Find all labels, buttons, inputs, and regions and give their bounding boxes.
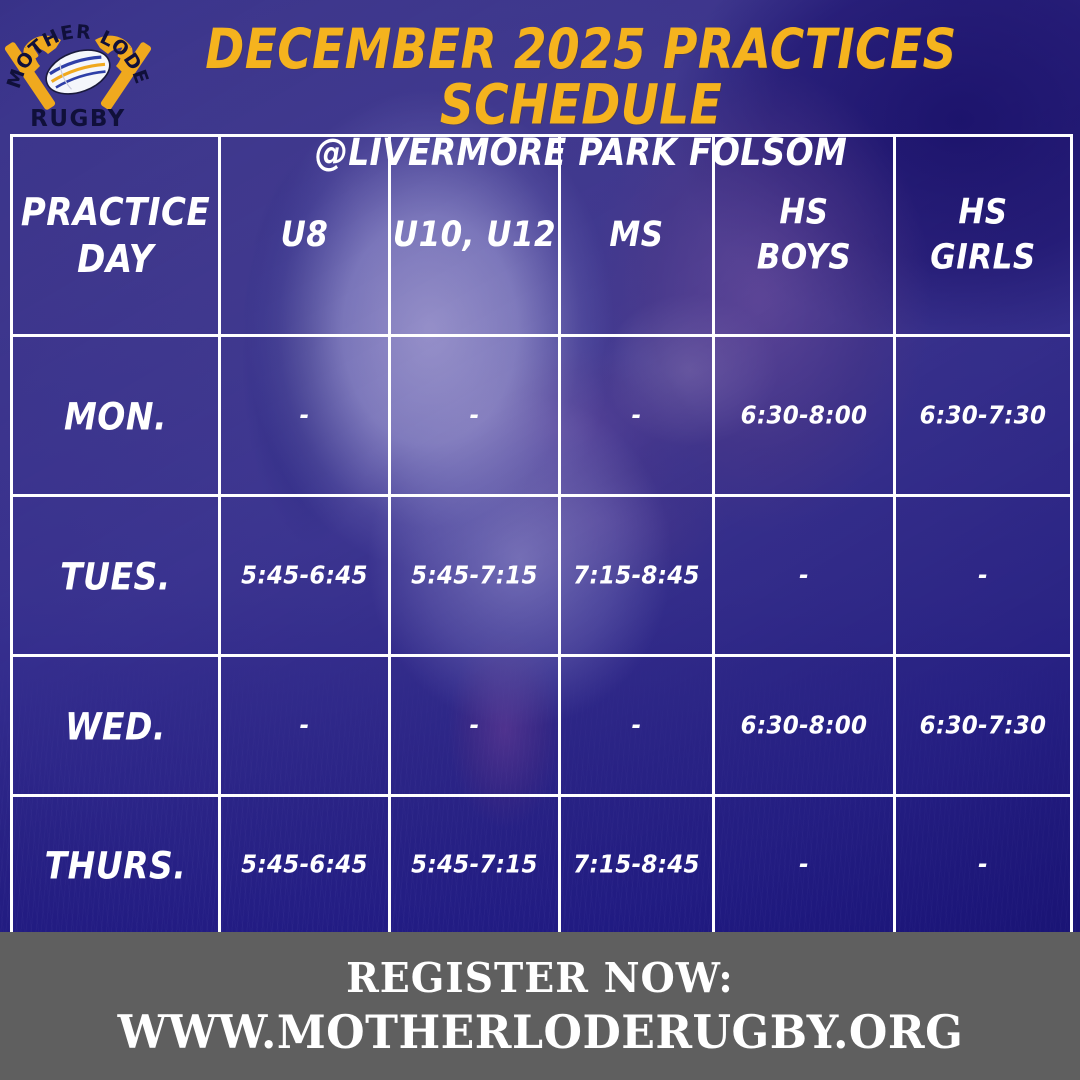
cell-day: TUES. [12, 486, 220, 665]
column-header-u10-u12: U10, U12 [390, 124, 560, 348]
cell-u8: - [220, 649, 390, 803]
cell-hs-girls: 6:30-7:30 [895, 328, 1072, 504]
cell-hs-boys: 6:30-8:00 [714, 649, 895, 803]
cell-hs-girls: 6:30-7:30 [895, 649, 1072, 803]
practice-schedule-table: PRACTICE DAY U8 U10, U12 MS HS BOYS [10, 134, 1073, 935]
cell-day: WED. [12, 647, 220, 804]
cell-u10-u12: 5:45-7:15 [390, 789, 560, 941]
header-line-2: DAY [77, 237, 154, 282]
cell-day: MON. [12, 326, 220, 505]
column-header-practice-day: PRACTICE DAY [12, 124, 220, 348]
cell-u8: 5:45-6:45 [220, 789, 390, 941]
cell-u10-u12: 5:45-7:15 [390, 488, 560, 664]
poster-header: MOTHER LODE RUGBY DECEMBER 2025 PRACTICE… [0, 0, 1080, 134]
cell-u10-u12: - [390, 649, 560, 803]
practice-schedule-poster: MOTHER LODE RUGBY DECEMBER 2025 PRACTICE… [0, 0, 1080, 1080]
cell-hs-girls: - [895, 789, 1072, 941]
footer-register-banner: REGISTER NOW: WWW.MOTHERLODERUGBY.ORG [0, 932, 1080, 1080]
register-now-label: REGISTER NOW: [346, 958, 734, 999]
page-title: DECEMBER 2025 PRACTICES SCHEDULE [152, 22, 1010, 133]
header-line-1: MS [609, 214, 663, 254]
header-line-1: HS [779, 192, 828, 232]
table-row: WED. - - - 6:30-8:00 6:30-7:30 [12, 656, 1072, 796]
cell-u8: 5:45-6:45 [220, 488, 390, 664]
table-row: THURS. 5:45-6:45 5:45-7:15 7:15-8:45 - - [12, 796, 1072, 934]
column-header-hs-boys: HS BOYS [714, 124, 895, 348]
cell-ms: - [560, 328, 714, 504]
header-line-1: U8 [281, 214, 329, 254]
cell-ms: - [560, 649, 714, 803]
table-row: MON. - - - 6:30-8:00 6:30-7:30 [12, 336, 1072, 496]
website-url[interactable]: WWW.MOTHERLODERUGBY.ORG [117, 1009, 963, 1055]
header-line-1: HS [958, 192, 1007, 232]
column-header-hs-girls: HS GIRLS [895, 124, 1072, 348]
column-header-u8: U8 [220, 124, 390, 348]
cell-u10-u12: - [390, 328, 560, 504]
cell-hs-boys: - [714, 789, 895, 941]
table-header-row: PRACTICE DAY U8 U10, U12 MS HS BOYS [12, 136, 1072, 336]
cell-ms: 7:15-8:45 [560, 488, 714, 664]
header-line-1: PRACTICE [21, 189, 210, 234]
header-line-2: BOYS [757, 237, 852, 277]
mother-lode-rugby-logo: MOTHER LODE RUGBY [4, 2, 152, 130]
cell-hs-boys: - [714, 488, 895, 664]
column-header-ms: MS [560, 124, 714, 348]
cell-hs-girls: - [895, 488, 1072, 664]
cell-u8: - [220, 328, 390, 504]
cell-hs-boys: 6:30-8:00 [714, 328, 895, 504]
schedule-table-container: PRACTICE DAY U8 U10, U12 MS HS BOYS [10, 134, 1070, 932]
cell-day: THURS. [12, 787, 220, 942]
cell-ms: 7:15-8:45 [560, 789, 714, 941]
header-line-1: U10, U12 [393, 214, 556, 254]
table-row: TUES. 5:45-6:45 5:45-7:15 7:15-8:45 - - [12, 496, 1072, 656]
header-line-2: GIRLS [930, 237, 1035, 277]
